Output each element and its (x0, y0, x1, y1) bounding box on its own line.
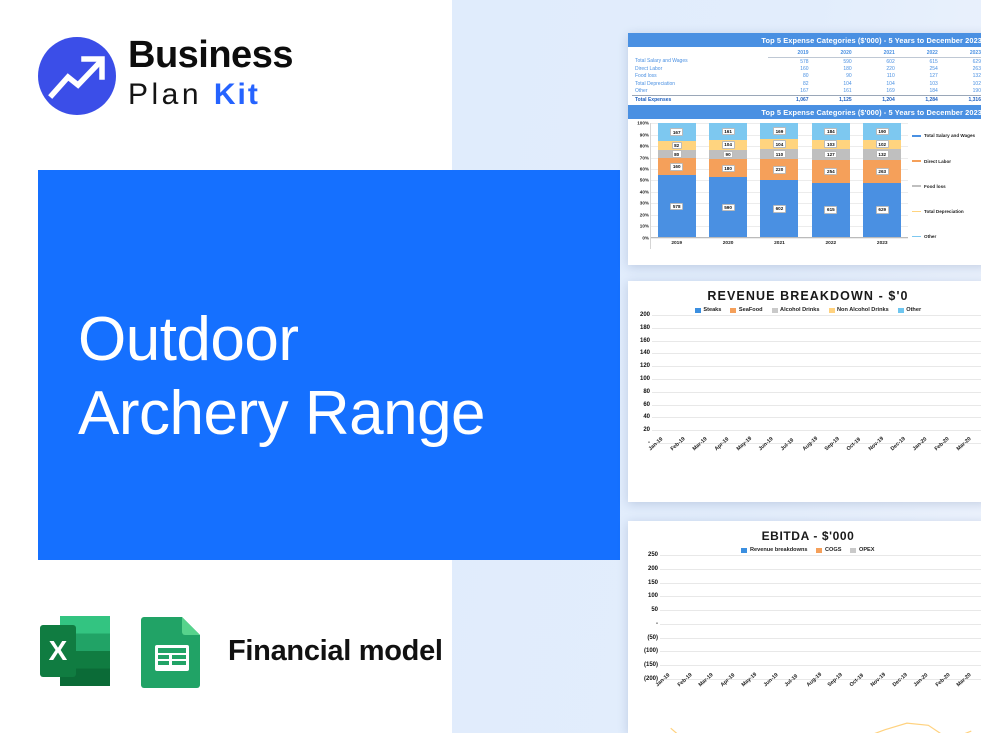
brand-line-business: Business (128, 34, 293, 76)
axis-tick: - (656, 621, 658, 627)
expense-cell: 90 (812, 73, 855, 80)
slide-canvas: Business Plan Kit Outdoor Archery Range … (0, 0, 981, 733)
axis-tick: 160 (640, 338, 650, 344)
expense-chart-y-axis: 100%90%80%70%60%50%40%30%20%10%0% (630, 123, 650, 249)
expense-cell: 263 (941, 65, 981, 72)
axis-tick: 150 (648, 580, 658, 586)
page-title: Outdoor Archery Range (78, 303, 598, 451)
table-row: Total Depreciation82104104103102 (632, 80, 981, 87)
bar-column (937, 555, 958, 679)
bar-column (895, 555, 916, 679)
expense-table-banner: Top 5 Expense Categories ($'000) - 5 Yea… (628, 33, 981, 47)
expense-total-row: Total Expenses1,0671,1251,2041,2841,316 (632, 95, 981, 103)
ebitda-chart-x-axis: Jan-19Feb-19Mar-19Apr-19May-19Jun-19Jul-… (628, 681, 981, 703)
expense-total-cell: 1,125 (812, 95, 855, 103)
axis-tick: 0% (642, 235, 649, 240)
axis-tick: 40% (640, 189, 649, 194)
expense-row-label: Total Depreciation (632, 80, 768, 87)
expense-bar-segment: 104 (760, 139, 798, 149)
axis-tick: 70% (640, 155, 649, 160)
bar-column (832, 555, 853, 679)
bar-column (768, 555, 789, 679)
expense-bar-segment: 104 (709, 140, 747, 151)
page-title-line1: Outdoor (78, 303, 598, 377)
revenue-chart-x-axis: Jan-19Feb-19Mar-19Apr-19May-19Jun-19Jul-… (628, 445, 981, 467)
expense-cell: 104 (812, 80, 855, 87)
expense-bar-column: 184103127254615 (812, 123, 850, 237)
expense-table-header-row: 20192020202120222023 (632, 50, 981, 58)
expense-bar-segment: 160 (658, 158, 696, 175)
ebitda-chart-legend: Revenue breakdownsCOGSOPEX (628, 543, 981, 555)
axis-tick: 2023 (863, 241, 901, 246)
axis-tick: 80% (640, 144, 649, 149)
bar-column (853, 555, 874, 679)
bar-column (849, 315, 871, 443)
expense-bar-segment: 103 (812, 140, 850, 149)
expense-cell: 615 (898, 58, 941, 66)
ebitda-chart-bars (660, 555, 981, 679)
ebitda-card[interactable]: EBITDA - $'000 Revenue breakdownsCOGSOPE… (628, 521, 981, 733)
axis-tick: 200 (640, 312, 650, 318)
bar-column (705, 555, 726, 679)
expense-cell: 167 (768, 88, 811, 96)
expense-bar-segment: 127 (812, 149, 850, 160)
bar-column (684, 555, 705, 679)
axis-tick: 2021 (760, 241, 798, 246)
expense-cell: 82 (768, 80, 811, 87)
expense-cell: 220 (855, 65, 898, 72)
axis-tick: (50) (647, 635, 658, 641)
page-title-line2: Archery Range (78, 377, 598, 451)
bar-column (936, 315, 958, 443)
expense-col-header: 2020 (812, 50, 855, 58)
microsoft-excel-icon: X (38, 614, 112, 688)
legend-item: Other (898, 307, 921, 313)
expense-bar-segment: 102 (863, 140, 901, 149)
expense-bar-segment: 80 (658, 150, 696, 159)
legend-item: Other (912, 234, 981, 239)
bar-column (677, 315, 699, 443)
expense-row-label: Total Salary and Wages (632, 58, 768, 66)
bar-column (810, 555, 831, 679)
expense-cell: 629 (941, 58, 981, 66)
bar-column (789, 555, 810, 679)
axis-tick: 100 (640, 376, 650, 382)
bar-column (828, 315, 850, 443)
expense-cell: 110 (855, 73, 898, 80)
legend-item: OPEX (850, 547, 874, 553)
bar-column (720, 315, 742, 443)
axis-tick: 100% (637, 121, 649, 126)
axis-tick: 2020 (709, 241, 747, 246)
axis-tick: 50% (640, 178, 649, 183)
expense-percent-stacked-chart: 100%90%80%70%60%50%40%30%20%10%0% 167828… (628, 119, 981, 251)
expense-row-label: Direct Labor (632, 65, 768, 72)
expense-cell: 590 (812, 58, 855, 66)
legend-item: Alcohol Drinks (772, 307, 820, 313)
expense-bar-column: 16110490180590 (709, 123, 747, 237)
expense-bar-segment: 220 (760, 159, 798, 180)
brand-kit-text: Kit (214, 78, 260, 111)
expense-total-cell: 1,067 (768, 95, 811, 103)
bar-column (806, 315, 828, 443)
revenue-chart-legend: SteaksSeaFoodAlcohol DrinksNon Alcohol D… (628, 303, 981, 315)
expense-cell: 160 (768, 65, 811, 72)
axis-tick: 120 (640, 363, 650, 369)
axis-tick: 20 (643, 427, 650, 433)
axis-tick: 180 (640, 325, 650, 331)
bar-column (698, 315, 720, 443)
expense-bar-segment: 161 (709, 123, 747, 139)
expense-chart-legend: Total Salary and WagesDirect LaborFood l… (908, 123, 981, 249)
expense-col-header (632, 50, 768, 58)
revenue-chart-title: REVENUE BREAKDOWN - $'0 (628, 281, 981, 303)
axis-tick: 10% (640, 224, 649, 229)
bar-column (871, 315, 893, 443)
expense-cell: 190 (941, 88, 981, 96)
ebitda-plot-wrap: 25020015010050-(50)(100)(150)(200) (628, 555, 981, 679)
expense-table-body: Total Salary and Wages578590602615629Dir… (632, 58, 981, 104)
axis-tick: 30% (640, 201, 649, 206)
expense-chart-banner: Top 5 Expense Categories ($'000) - 5 Yea… (628, 105, 981, 119)
expense-cell: 602 (855, 58, 898, 66)
legend-item: COGS (816, 547, 841, 553)
axis-tick: 80 (643, 389, 650, 395)
ebitda-chart-plot (660, 555, 981, 679)
expense-row-label: Food loss (632, 73, 768, 80)
expense-bar-segment: 190 (863, 123, 901, 139)
expense-bar-segment: 254 (812, 160, 850, 183)
svg-text:X: X (49, 635, 68, 666)
legend-item: Total Salary and Wages (912, 133, 981, 138)
expense-cell: 169 (855, 88, 898, 96)
axis-tick: 60% (640, 167, 649, 172)
expense-table: 20192020202120222023 Total Salary and Wa… (628, 47, 981, 105)
legend-item: Direct Labor (912, 159, 981, 164)
revenue-plot-wrap: 20018016014012010080604020- (628, 315, 981, 443)
table-row: Total Salary and Wages578590602615629 (632, 58, 981, 66)
revenue-chart-y-axis: 20018016014012010080604020- (630, 315, 652, 443)
format-icons-row: X Financial model (38, 612, 443, 690)
expense-cell: 161 (812, 88, 855, 96)
expense-categories-card[interactable]: Top 5 Expense Categories ($'000) - 5 Yea… (628, 33, 981, 265)
legend-item: Food loss (912, 184, 981, 189)
axis-tick: 2019 (658, 241, 696, 246)
bar-column (958, 555, 979, 679)
expense-cell: 254 (898, 65, 941, 72)
axis-tick: 200 (648, 566, 658, 572)
expense-cell: 127 (898, 73, 941, 80)
expense-bar-segment: 180 (709, 159, 747, 177)
brand-line-plankit: Plan Kit (128, 76, 293, 114)
expense-cell: 80 (768, 73, 811, 80)
expense-cell: 578 (768, 58, 811, 66)
table-row: Direct Labor160180220254263 (632, 65, 981, 72)
expense-cell: 180 (812, 65, 855, 72)
expense-col-header: 2022 (898, 50, 941, 58)
ebitda-chart-title: EBITDA - $'000 (628, 521, 981, 543)
expense-bar-segment: 602 (760, 180, 798, 237)
expense-bar-segment: 132 (863, 149, 901, 160)
bar-column (785, 315, 807, 443)
ebitda-chart-y-axis: 25020015010050-(50)(100)(150)(200) (630, 555, 660, 679)
expense-bar-segment: 90 (709, 150, 747, 159)
revenue-chart-plot (652, 315, 981, 443)
bar-column (663, 555, 684, 679)
expense-cell: 132 (941, 73, 981, 80)
bar-column (655, 315, 677, 443)
bar-column (957, 315, 979, 443)
expense-bar-segment: 578 (658, 175, 696, 237)
axis-tick: 250 (648, 552, 658, 558)
legend-item: SeaFood (730, 307, 762, 313)
bar-column (741, 315, 763, 443)
expense-row-label: Other (632, 88, 768, 96)
bar-column (763, 315, 785, 443)
expense-bar-segment: 82 (658, 141, 696, 150)
expense-bar-segment: 615 (812, 183, 850, 238)
expense-bar-segment: 263 (863, 160, 901, 183)
legend-item: Steaks (695, 307, 722, 313)
axis-tick: 100 (648, 593, 658, 599)
axis-tick: 50 (651, 607, 658, 613)
expense-chart-bars: 1678280160578161104901805901691041102206… (651, 123, 908, 237)
legend-item: Non Alcohol Drinks (829, 307, 889, 313)
axis-tick: (100) (644, 648, 658, 654)
expense-total-cell: 1,204 (855, 95, 898, 103)
bar-column (747, 555, 768, 679)
brand-wordmark: Business Plan Kit (128, 34, 293, 114)
expense-bar-segment: 590 (709, 177, 747, 237)
expense-bar-segment: 184 (812, 123, 850, 139)
expense-bar-segment: 167 (658, 123, 696, 141)
bar-column (914, 315, 936, 443)
expense-total-cell: 1,284 (898, 95, 941, 103)
axis-tick: 40 (643, 414, 650, 420)
expense-total-label: Total Expenses (632, 95, 768, 103)
expense-bar-column: 190102132263629 (863, 123, 901, 237)
expense-bar-column: 1678280160578 (658, 123, 696, 237)
expense-chart-x-axis: 20192020202120222023 (651, 237, 908, 249)
bar-column (726, 555, 747, 679)
revenue-chart-bars (652, 315, 981, 443)
legend-item: Revenue breakdowns (741, 547, 807, 553)
trend-arrow-circle-icon (38, 37, 116, 115)
axis-tick: 2022 (812, 241, 850, 246)
expense-total-cell: 1,316 (941, 95, 981, 103)
bar-column (893, 315, 915, 443)
expense-col-header: 2021 (855, 50, 898, 58)
expense-bar-column: 169104110220602 (760, 123, 798, 237)
axis-tick: (150) (644, 662, 658, 668)
axis-tick: 140 (640, 350, 650, 356)
axis-tick: 60 (643, 402, 650, 408)
expense-cell: 104 (855, 80, 898, 87)
axis-tick: 90% (640, 132, 649, 137)
expense-cell: 102 (941, 80, 981, 87)
expense-bar-segment: 169 (760, 123, 798, 139)
expense-cell: 184 (898, 88, 941, 96)
expense-col-header: 2019 (768, 50, 811, 58)
bar-column (874, 555, 895, 679)
expense-col-header: 2023 (941, 50, 981, 58)
bar-column (916, 555, 937, 679)
legend-item: Total Depreciation (912, 209, 981, 214)
expense-bar-segment: 110 (760, 149, 798, 159)
brand-plan-text: Plan (128, 78, 202, 111)
financial-model-label: Financial model (228, 635, 443, 668)
table-row: Food loss8090110127132 (632, 73, 981, 80)
revenue-breakdown-card[interactable]: REVENUE BREAKDOWN - $'0 SteaksSeaFoodAlc… (628, 281, 981, 502)
expense-chart-plot: 1678280160578161104901805901691041102206… (650, 123, 908, 249)
expense-cell: 103 (898, 80, 941, 87)
google-sheets-icon (140, 614, 204, 688)
brand-logo[interactable]: Business Plan Kit (36, 32, 336, 124)
axis-tick: 20% (640, 212, 649, 217)
expense-bar-segment: 629 (863, 183, 901, 237)
table-row: Other167161169184190 (632, 88, 981, 96)
